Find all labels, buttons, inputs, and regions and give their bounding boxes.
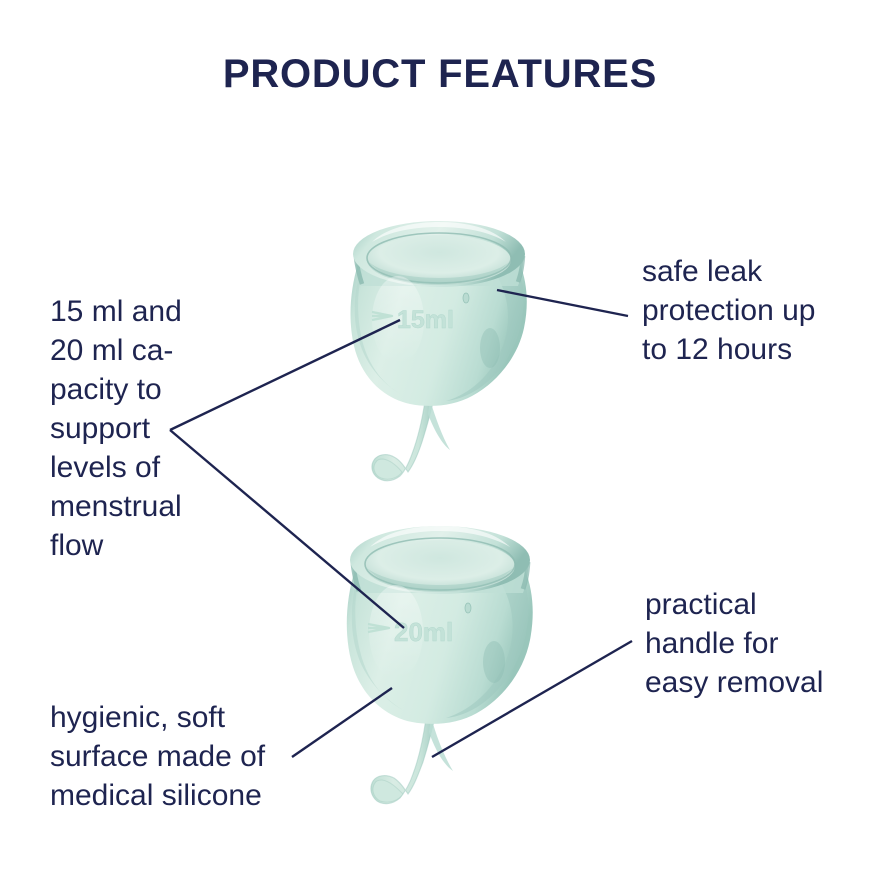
- cup-volume-label: 20ml: [394, 617, 453, 647]
- cup-rim-inner: [367, 235, 511, 285]
- callout-text-practical-handle: practical handle for easy removal: [645, 585, 860, 702]
- air-hole-icon: [463, 293, 469, 303]
- air-hole-icon: [465, 603, 471, 613]
- cup-rim-inner: [365, 540, 515, 592]
- callout-text-capacity: 15 ml and 20 ml ca- pacity to support le…: [50, 292, 225, 565]
- page-title: PRODUCT FEATURES: [0, 52, 880, 97]
- cup-volume-label: 15ml: [397, 306, 454, 334]
- product-image-cup-15ml: 15ml: [342, 216, 538, 496]
- callout-text-leak-protection: safe leak protection up to 12 hours: [642, 252, 857, 369]
- product-features-infographic: PRODUCT FEATURES: [0, 0, 880, 880]
- callout-text-hygienic-surface: hygienic, soft surface made of medical s…: [50, 698, 310, 815]
- cup-shadow-spot: [483, 641, 505, 683]
- cup-handle-curve: [428, 400, 450, 450]
- cup-handle-curve: [429, 717, 453, 771]
- product-image-cup-20ml: 20ml: [338, 520, 542, 820]
- cup-shadow-spot: [480, 328, 500, 368]
